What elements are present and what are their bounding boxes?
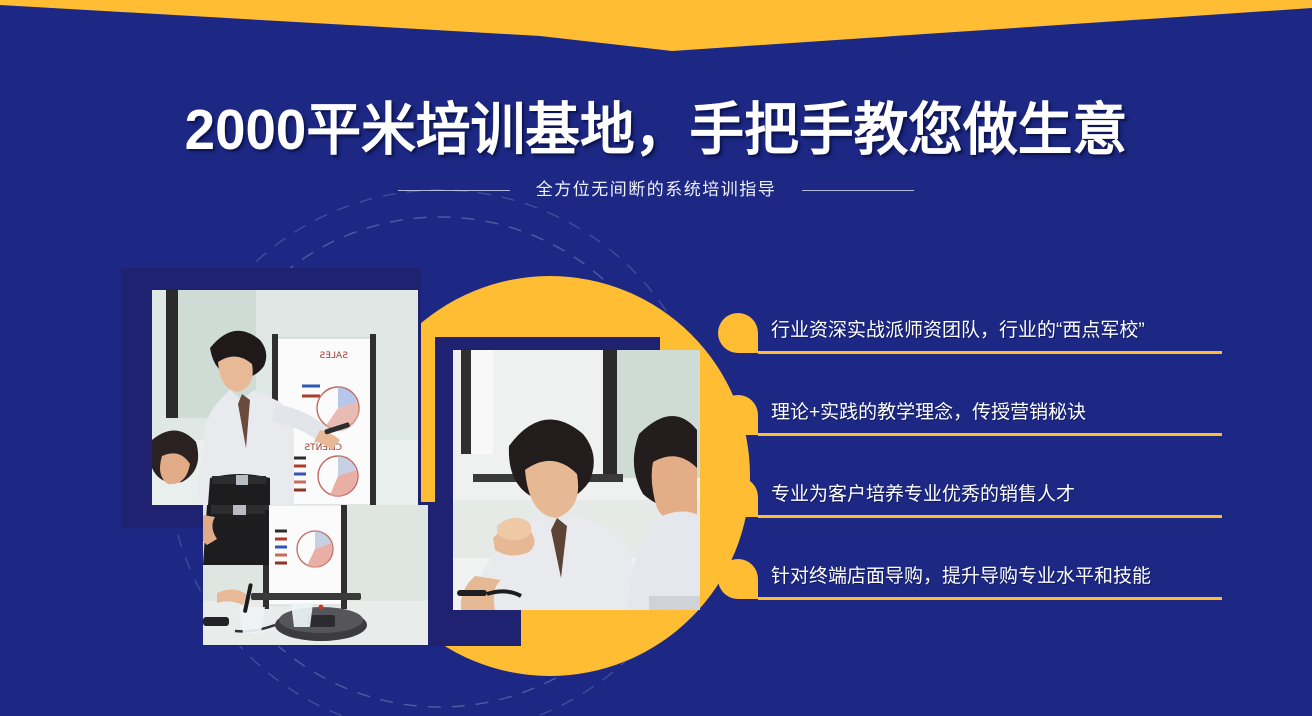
list-item[interactable]: 针对终端店面导购，提升导购专业水平和技能 (718, 551, 1224, 633)
teardrop-bullet-icon (718, 313, 758, 353)
svg-text:SALES: SALES (319, 351, 348, 361)
list-item-label: 针对终端店面导购，提升导购专业水平和技能 (771, 562, 1151, 592)
page-title: 2000平米培训基地，手把手教您做生意 (0, 98, 1312, 162)
top-yellow-band (0, 0, 1312, 90)
list-item-label: 行业资深实战派师资团队，行业的“西点军校” (771, 316, 1145, 346)
main-title-text: 2000平米培训基地，手把手教您做生意 (185, 98, 1128, 162)
trainer-photo-art: SALES CLIENTS (152, 290, 418, 505)
teardrop-bullet-icon (718, 477, 758, 517)
list-item-underline (758, 515, 1222, 518)
subtitle-row: 全方位无间断的系统培训指导 (0, 180, 1312, 200)
list-item[interactable]: 行业资深实战派师资团队，行业的“西点军校” (718, 305, 1224, 387)
teardrop-bullet-icon (718, 395, 758, 435)
subtitle-rule-right (802, 190, 914, 191)
list-item-underline (758, 597, 1222, 600)
list-item-label: 专业为客户培养专业优秀的销售人才 (771, 480, 1075, 510)
list-item-underline (758, 351, 1222, 354)
photo-trainees-listening (453, 350, 700, 610)
banner-root: 2000平米培训基地，手把手教您做生意 全方位无间断的系统培训指导 SALES (0, 0, 1312, 716)
teardrop-bullet-icon (718, 559, 758, 599)
feature-list: 行业资深实战派师资团队，行业的“西点军校” 理论+实践的教学理念，传授营销秘诀 … (718, 305, 1224, 633)
list-item-underline (758, 433, 1222, 436)
listening-photo-art (453, 350, 700, 610)
photo-trainer-at-flipchart: SALES CLIENTS (152, 290, 418, 505)
notes-photo-art (203, 505, 428, 645)
list-item[interactable]: 专业为客户培养专业优秀的销售人才 (718, 469, 1224, 551)
list-item-label: 理论+实践的教学理念，传授营销秘诀 (771, 398, 1086, 428)
photo-trainees-taking-notes (203, 505, 428, 645)
list-item[interactable]: 理论+实践的教学理念，传授营销秘诀 (718, 387, 1224, 469)
subtitle-rule-left (398, 190, 510, 191)
photo-collage: SALES CLIENTS (110, 250, 690, 662)
subtitle-text: 全方位无间断的系统培训指导 (536, 180, 777, 200)
